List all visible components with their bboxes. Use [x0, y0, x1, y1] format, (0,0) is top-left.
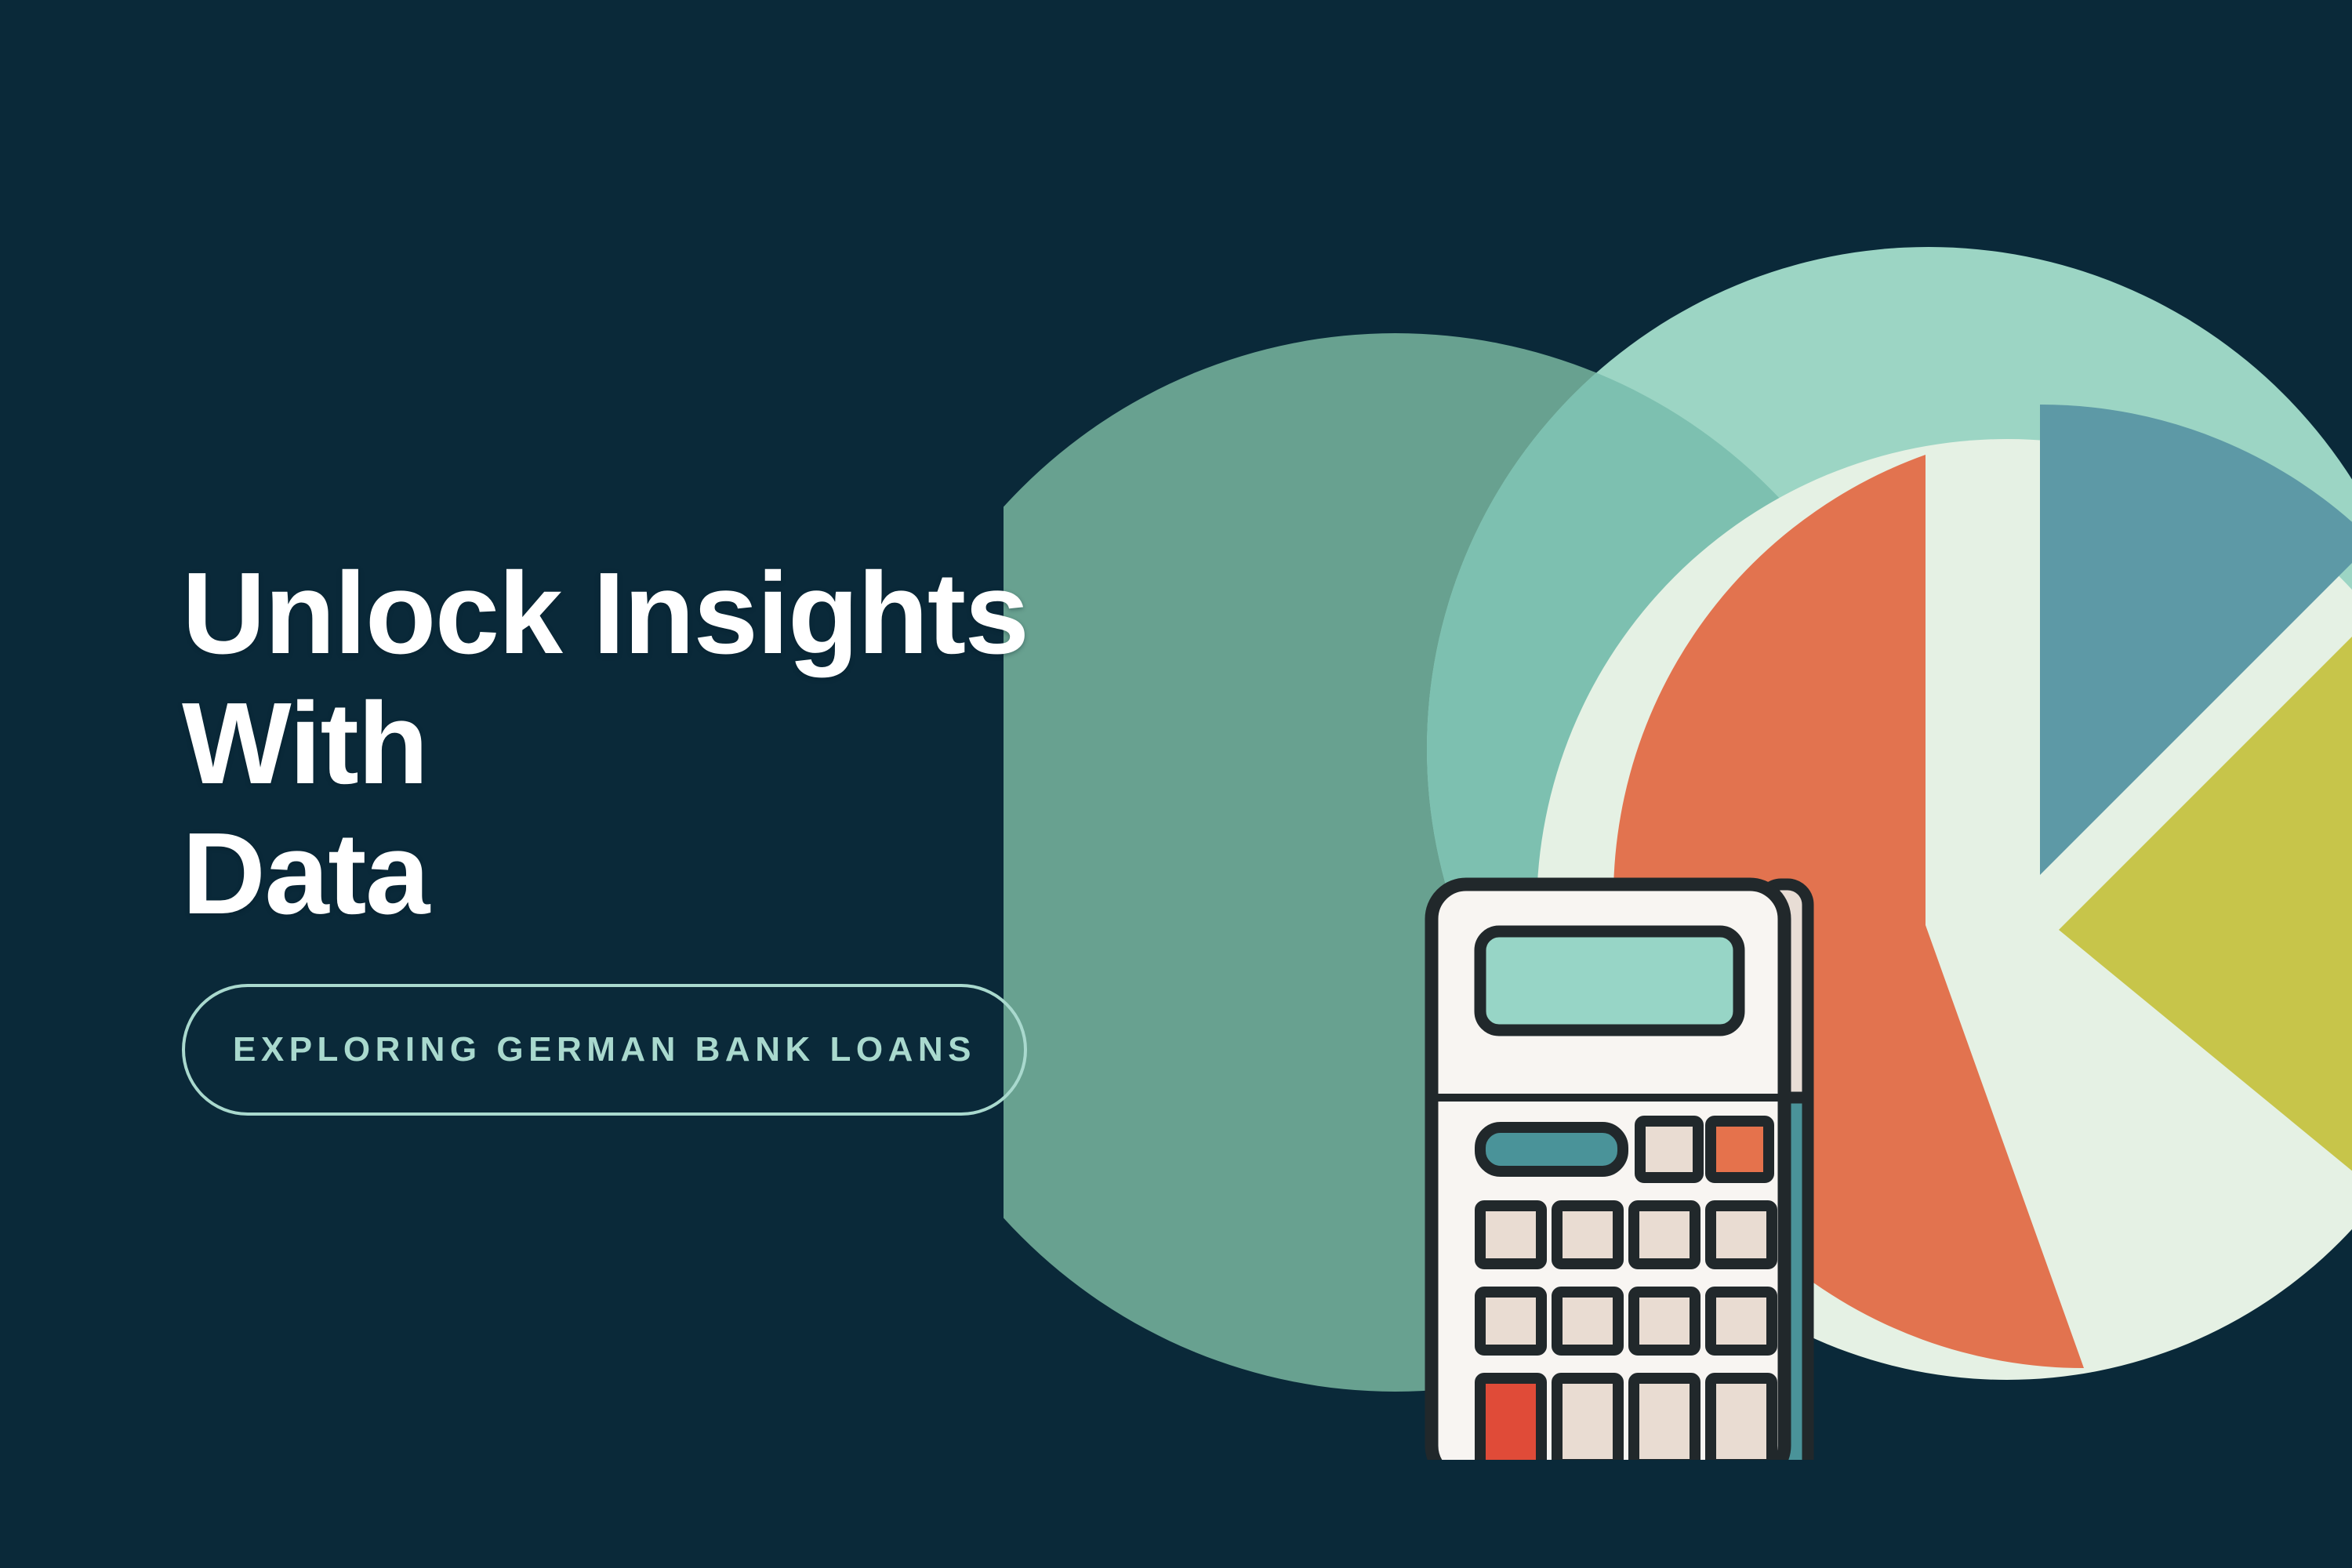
calculator-key — [1634, 1292, 1695, 1350]
calculator-key — [1711, 1206, 1772, 1264]
calculator-key — [1640, 1121, 1698, 1178]
hero-text-block: Unlock Insights With Data EXPLORING GERM… — [182, 549, 1060, 1116]
calculator-key — [1634, 1378, 1695, 1460]
illustration-svg — [1004, 0, 2352, 1460]
calculator-key — [1480, 1206, 1541, 1264]
calculator-key-red — [1480, 1378, 1541, 1460]
page-title: Unlock Insights With Data — [182, 549, 1060, 938]
calculator-key — [1480, 1292, 1541, 1350]
calculator-key — [1711, 1378, 1772, 1460]
hero-illustration — [1004, 0, 2352, 1460]
calculator-key — [1557, 1378, 1618, 1460]
calculator-key — [1557, 1206, 1618, 1264]
calculator-key-wide — [1480, 1127, 1623, 1171]
subtitle-badge: EXPLORING GERMAN BANK LOANS — [182, 984, 1027, 1116]
calculator-key-orange — [1711, 1121, 1769, 1178]
calculator-key — [1711, 1292, 1772, 1350]
calculator-key — [1557, 1292, 1618, 1350]
slide-root: Unlock Insights With Data EXPLORING GERM… — [0, 0, 2352, 1568]
calculator-key — [1634, 1206, 1695, 1264]
calculator-display — [1480, 931, 1739, 1030]
calculator — [1432, 884, 1808, 1460]
